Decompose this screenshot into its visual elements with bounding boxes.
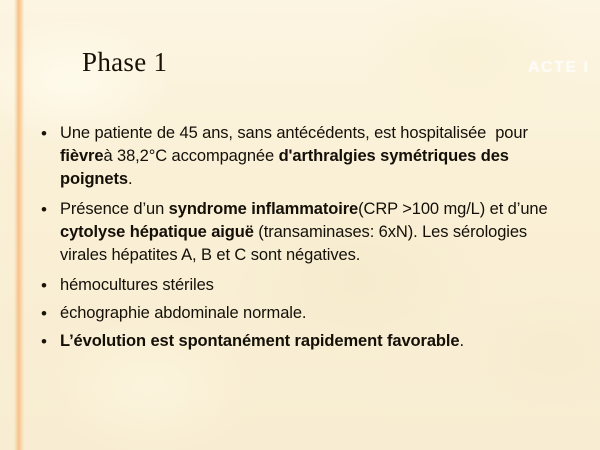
bullet-list: •Une patiente de 45 ans, sans antécédent…	[36, 122, 568, 360]
bullet-1-text: Une patiente de 45 ans, sans antécédents…	[60, 122, 568, 191]
bullet-item: •Une patiente de 45 ans, sans antécédent…	[36, 122, 568, 191]
bullet-5-text: L’évolution est spontanément rapidement …	[60, 330, 568, 353]
bullet-item: •L’évolution est spontanément rapidement…	[36, 330, 568, 353]
emphasis-text: cytolyse hépatique aiguë	[60, 223, 254, 241]
plain-text: à 38,2°C accompagnée	[103, 147, 278, 165]
bullet-point-icon: •	[36, 330, 60, 353]
bullet-point-icon: •	[36, 274, 60, 297]
plain-text: Une patiente de 45 ans, sans antécédents…	[60, 124, 532, 142]
bullet-item: •Présence d’un syndrome inflammatoire(CR…	[36, 198, 568, 267]
bullet-4-text: échographie abdominale normale.	[60, 302, 568, 325]
plain-text: Présence d’un	[60, 200, 169, 218]
plain-text: .	[459, 332, 463, 350]
plain-text: hémocultures stériles	[60, 276, 214, 294]
slide-canvas: ACTE I Phase 1 •Une patiente de 45 ans, …	[0, 0, 600, 450]
plain-text: .	[128, 170, 132, 188]
bullet-item: •échographie abdominale normale.	[36, 302, 568, 325]
bullet-point-icon: •	[36, 122, 60, 145]
emphasis-text: syndrome inflammatoire	[169, 200, 358, 218]
emphasis-text: fièvre	[60, 147, 103, 165]
acte-watermark: ACTE I	[528, 59, 589, 77]
plain-text: (CRP >100 mg/L) et d’une	[358, 200, 552, 218]
bullet-item: •hémocultures stériles	[36, 274, 568, 297]
emphasis-text: L’évolution est spontanément rapidement …	[60, 332, 459, 350]
slide-title: Phase 1	[82, 47, 167, 78]
bullet-3-text: hémocultures stériles	[60, 274, 568, 297]
bullet-point-icon: •	[36, 198, 60, 221]
left-accent-stripe	[14, 0, 25, 450]
bullet-2-text: Présence d’un syndrome inflammatoire(CRP…	[60, 198, 568, 267]
plain-text: échographie abdominale normale.	[60, 304, 306, 322]
bullet-point-icon: •	[36, 302, 60, 325]
